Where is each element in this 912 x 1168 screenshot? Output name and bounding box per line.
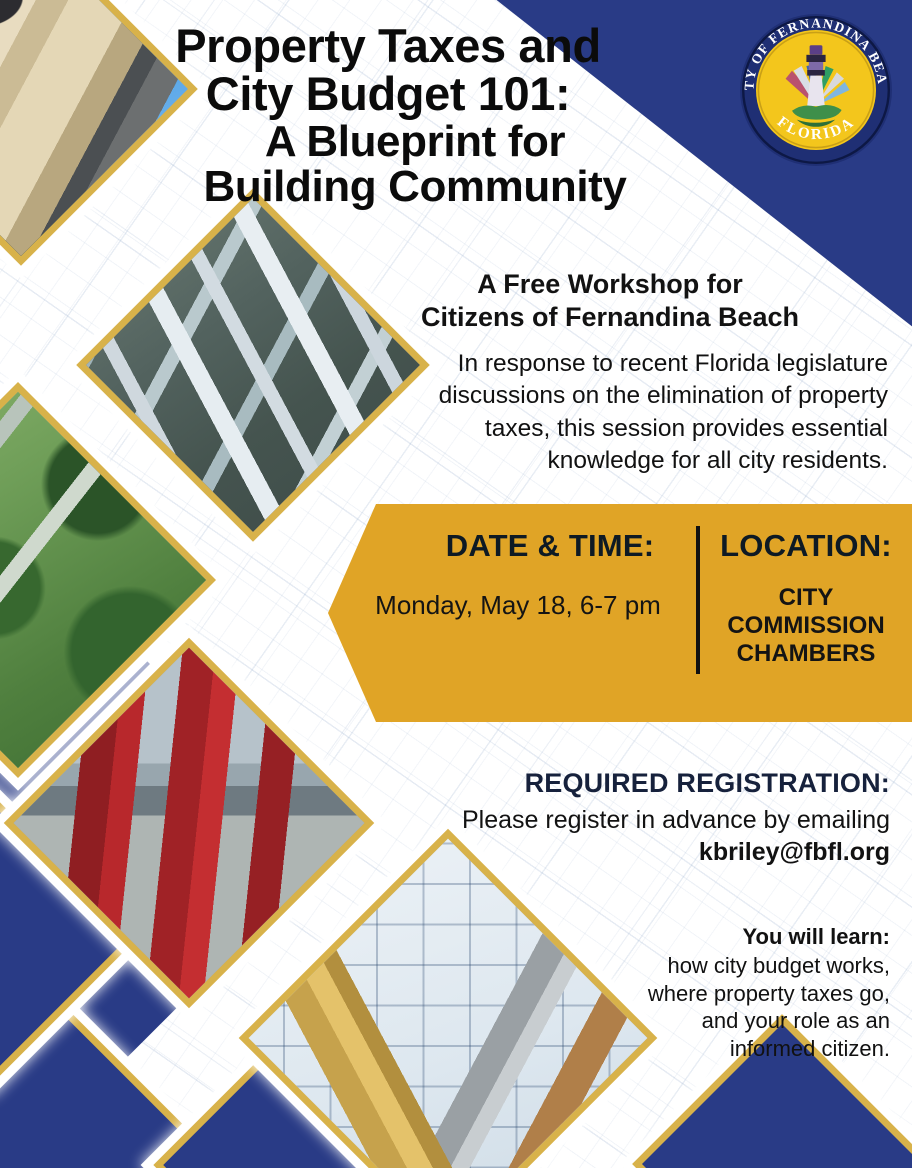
title-line-4: Building Community	[78, 164, 698, 209]
title-line-3: A Blueprint for	[78, 119, 698, 164]
learn-title: You will learn:	[590, 924, 890, 950]
date-time-label: DATE & TIME:	[414, 528, 686, 564]
banner-divider	[696, 526, 700, 674]
city-seal-icon: CITY OF FERNANDINA BEACH FLORIDA	[736, 10, 896, 170]
registration-email[interactable]: kbriley@fbfl.org	[699, 838, 890, 866]
learning-outcomes-section: You will learn: how city budget works, w…	[590, 924, 890, 1063]
registration-body: Please register in advance by emailing k…	[460, 805, 890, 868]
title-line-2: City Budget 101:	[78, 70, 698, 118]
learn-item-1: how city budget works,	[590, 952, 890, 980]
date-time-value: Monday, May 18, 6-7 pm	[348, 590, 688, 621]
intro-paragraph: In response to recent Florida legislatur…	[368, 348, 888, 477]
registration-title: REQUIRED REGISTRATION:	[460, 768, 890, 799]
title-line-1: Property Taxes and	[78, 22, 698, 70]
location-value: CITY COMMISSION CHAMBERS	[718, 584, 894, 667]
date-location-banner: DATE & TIME: Monday, May 18, 6-7 pm LOCA…	[328, 504, 912, 722]
learn-item-3: and your role as an	[590, 1007, 890, 1035]
registration-section: REQUIRED REGISTRATION: Please register i…	[460, 768, 890, 868]
subheading-line-1: A Free Workshop for	[330, 268, 890, 301]
flyer-poster: CITY OF FERNANDINA BEACH FLORIDA Propert…	[0, 0, 912, 1168]
learn-list: how city budget works, where property ta…	[590, 952, 890, 1063]
learn-item-2: where property taxes go,	[590, 980, 890, 1008]
registration-instructions: Please register in advance by emailing	[462, 806, 890, 834]
learn-item-4: informed citizen.	[590, 1035, 890, 1063]
page-title: Property Taxes and City Budget 101: A Bl…	[78, 22, 698, 209]
subheading: A Free Workshop for Citizens of Fernandi…	[330, 268, 890, 334]
location-label: LOCATION:	[718, 528, 894, 564]
subheading-line-2: Citizens of Fernandina Beach	[330, 301, 890, 334]
